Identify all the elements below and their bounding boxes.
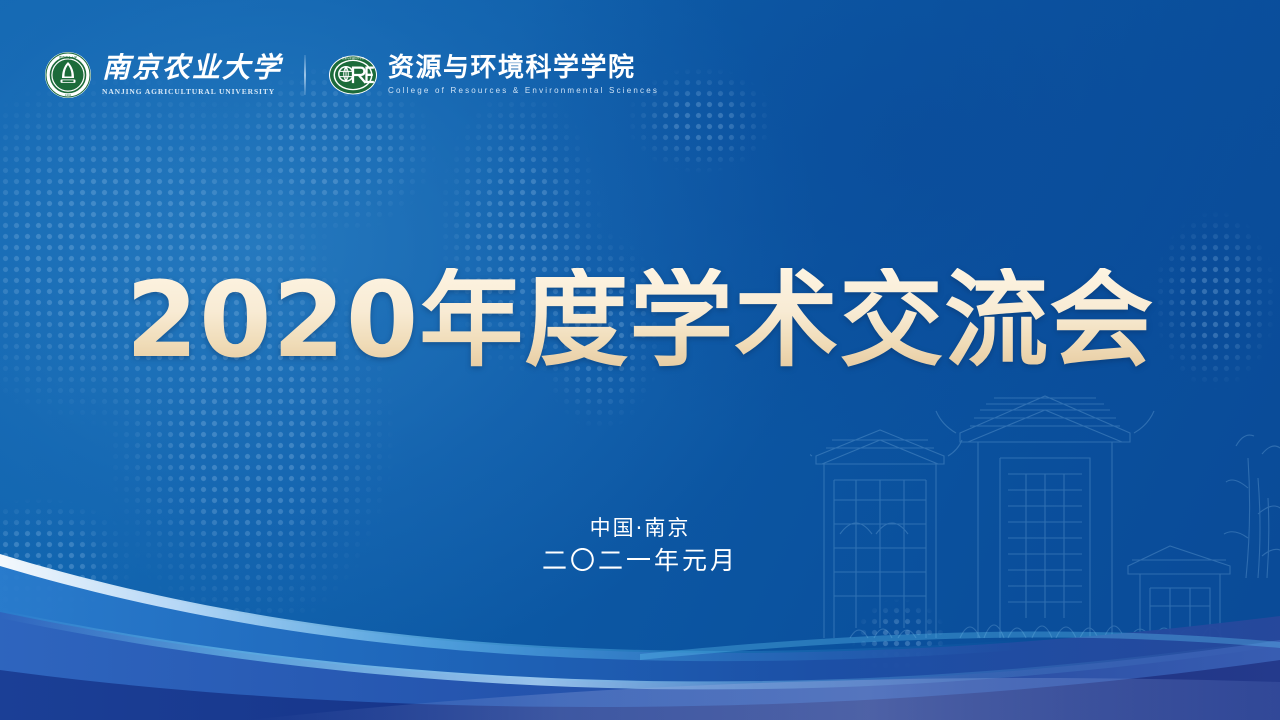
college-resources-environmental-sciences-emblem-icon: 资源与环境科学学院 [328, 54, 378, 96]
header-logo-bar: 南京农业大学 1902 南京农业大学 NANJING AGRICULTURAL … [44, 46, 659, 104]
university-name-cn: 南京农业大学 [102, 54, 282, 84]
svg-text:资源与环境科学学院: 资源与环境科学学院 [342, 56, 365, 60]
college-logo: 资源与环境科学学院 资源与环境科学学院 College of Resources… [328, 54, 659, 96]
svg-text:南京农业大学: 南京农业大学 [59, 54, 77, 59]
svg-text:1902: 1902 [65, 94, 72, 97]
college-name-cn: 资源与环境科学学院 [388, 55, 659, 83]
slide-title: 2020年度学术交流会 [0, 268, 1280, 372]
presentation-slide: 南京农业大学 1902 南京农业大学 NANJING AGRICULTURAL … [0, 0, 1280, 720]
logo-divider [304, 55, 306, 95]
university-name-en: NANJING AGRICULTURAL UNIVERSITY [102, 87, 282, 96]
bottom-wave-decoration [0, 520, 1280, 720]
college-name-en: College of Resources & Environmental Sci… [388, 86, 659, 95]
nanjing-agricultural-university-seal-icon: 南京农业大学 1902 [44, 51, 92, 99]
university-logo: 南京农业大学 1902 南京农业大学 NANJING AGRICULTURAL … [44, 51, 282, 99]
